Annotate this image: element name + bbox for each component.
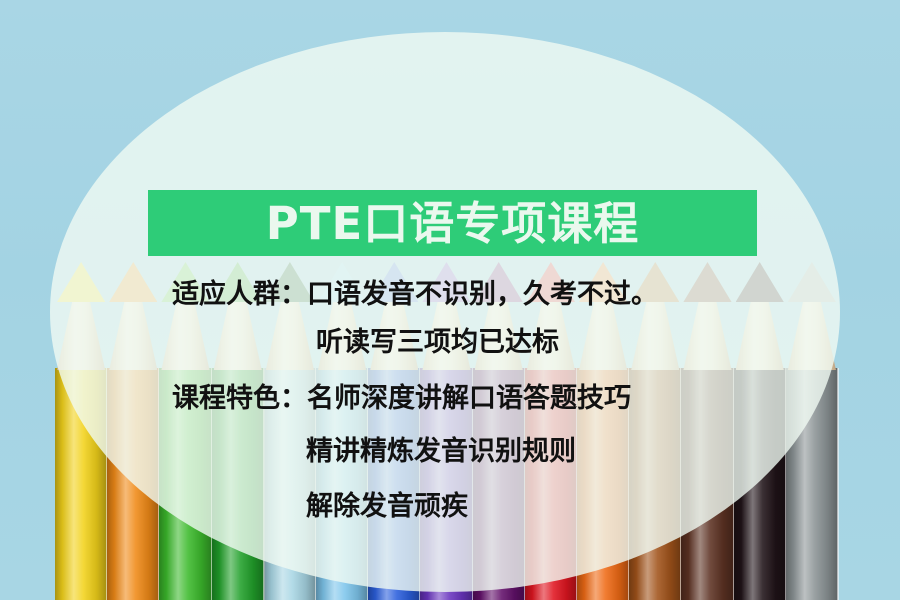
poster-canvas: PTE口语专项课程 适应人群：口语发音不识别，久考不过。 听读写三项均已达标 课… [0,0,900,600]
audience-line-2: 听读写三项均已达标 [316,329,559,356]
poster-content: PTE口语专项课程 适应人群：口语发音不识别，久考不过。 听读写三项均已达标 课… [0,0,900,600]
audience-line-1: 适应人群：口语发音不识别，久考不过。 [172,281,658,308]
title-banner: PTE口语专项课程 [148,190,757,256]
features-line-3: 解除发音顽疾 [306,493,468,520]
features-line-2: 精讲精炼发音识别规则 [306,438,576,465]
features-line-1: 课程特色：名师深度讲解口语答题技巧 [172,385,631,412]
poster-title: PTE口语专项课程 [266,201,639,246]
